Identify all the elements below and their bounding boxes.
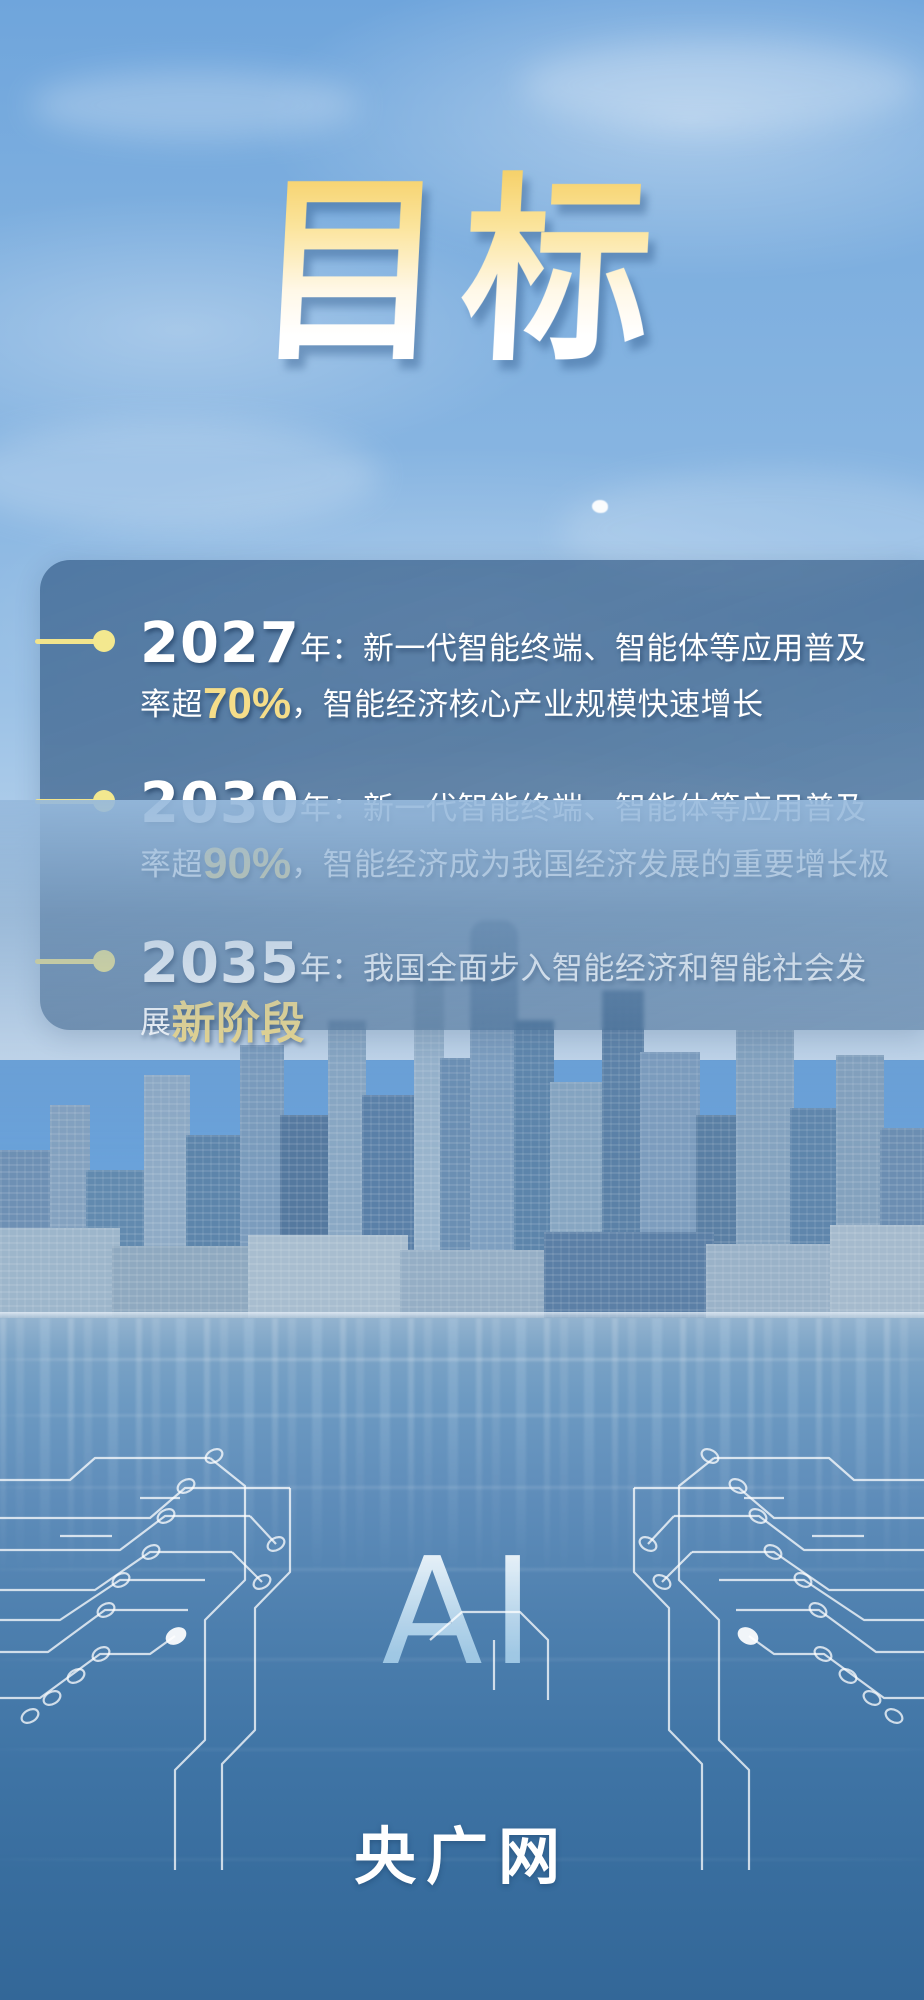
- ai-wordmark: AI: [0, 1538, 924, 1686]
- goal-tail: ，智能经济核心产业规模快速增长: [291, 687, 764, 722]
- goals-card: 2027年：新一代智能终端、智能体等应用普及率超70%，智能经济核心产业规模快速…: [40, 560, 924, 1030]
- goal-highlight: 新阶段: [172, 999, 306, 1048]
- goal-text: 2027年：新一代智能终端、智能体等应用普及率超70%，智能经济核心产业规模快速…: [140, 616, 924, 736]
- cloud-shape: [30, 70, 360, 140]
- goal-year: 2030: [140, 771, 300, 836]
- cloud-shape: [520, 40, 920, 130]
- goal-row: 2030年：新一代智能终端、智能体等应用普及率超90%，智能经济成为我国经济发展…: [40, 776, 924, 896]
- goal-highlight: 70%: [203, 679, 291, 728]
- goal-tail: ，智能经济成为我国经济发展的重要增长极: [291, 847, 890, 882]
- goal-year: 2027: [140, 611, 300, 676]
- goal-highlight: 90%: [203, 839, 291, 888]
- goal-row: 2035年：我国全面步入智能经济和智能社会发展新阶段: [40, 936, 924, 1056]
- poster-root: 目标 2027年：新一代智能终端、智能体等应用普及率超70%，智能经济核心产业规…: [0, 0, 924, 2000]
- goal-year: 2035: [140, 931, 300, 996]
- bullet-marker-icon: [35, 950, 131, 972]
- goals-list: 2027年：新一代智能终端、智能体等应用普及率超70%，智能经济核心产业规模快速…: [40, 560, 924, 1057]
- bullet-marker-icon: [35, 790, 131, 812]
- brand-logo: 央广网: [0, 1826, 924, 1888]
- cloud-shape: [0, 420, 380, 530]
- goal-text: 2030年：新一代智能终端、智能体等应用普及率超90%，智能经济成为我国经济发展…: [140, 776, 924, 896]
- small-cloud-shape: [592, 500, 608, 513]
- goal-text: 2035年：我国全面步入智能经济和智能社会发展新阶段: [140, 936, 924, 1056]
- poster-title: 目标: [0, 170, 924, 371]
- bullet-marker-icon: [35, 630, 131, 652]
- goal-row: 2027年：新一代智能终端、智能体等应用普及率超70%，智能经济核心产业规模快速…: [40, 616, 924, 736]
